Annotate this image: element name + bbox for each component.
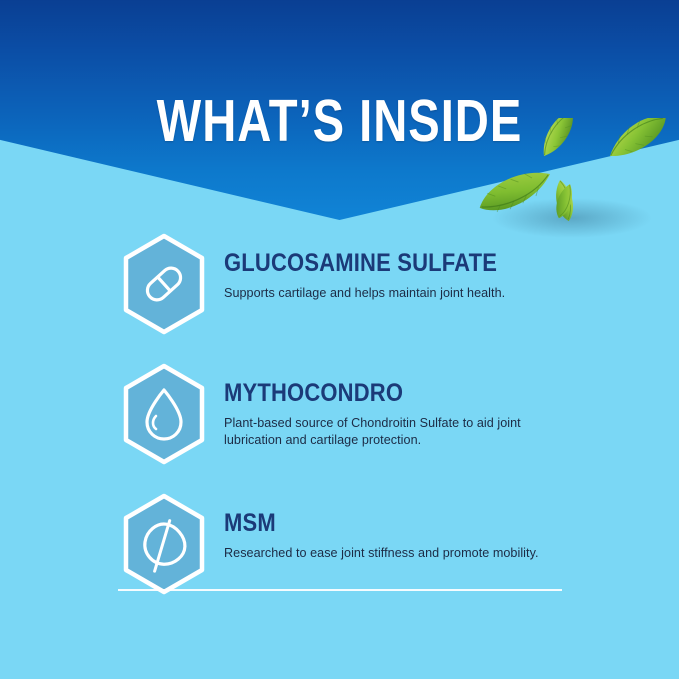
list-item: MSM Researched to ease joint stiffness a… bbox=[0, 492, 679, 600]
list-item: GLUCOSAMINE SULFATE Supports cartilage a… bbox=[0, 232, 679, 340]
feature-description: Researched to ease joint stiffness and p… bbox=[224, 545, 569, 562]
feature-text-block: MYTHOCONDRO Plant-based source of Chondr… bbox=[224, 362, 569, 449]
feature-text-block: MSM Researched to ease joint stiffness a… bbox=[224, 492, 569, 562]
page-title: WHAT’S INSIDE bbox=[68, 92, 611, 151]
water-drop-icon bbox=[118, 362, 210, 466]
feature-title: MYTHOCONDRO bbox=[224, 380, 528, 406]
capsule-pill-icon bbox=[118, 232, 210, 336]
feature-text-block: GLUCOSAMINE SULFATE Supports cartilage a… bbox=[224, 232, 569, 302]
feature-title: MSM bbox=[224, 510, 528, 536]
features-list: GLUCOSAMINE SULFATE Supports cartilage a… bbox=[0, 232, 679, 600]
feature-description: Plant-based source of Chondroitin Sulfat… bbox=[224, 415, 569, 449]
list-item: MYTHOCONDRO Plant-based source of Chondr… bbox=[0, 362, 679, 470]
leaf-icon bbox=[118, 492, 210, 596]
divider bbox=[118, 589, 562, 591]
feature-description: Supports cartilage and helps maintain jo… bbox=[224, 285, 569, 302]
whats-inside-infographic: WHAT’S INSIDE bbox=[0, 0, 679, 679]
feature-title: GLUCOSAMINE SULFATE bbox=[224, 250, 528, 276]
